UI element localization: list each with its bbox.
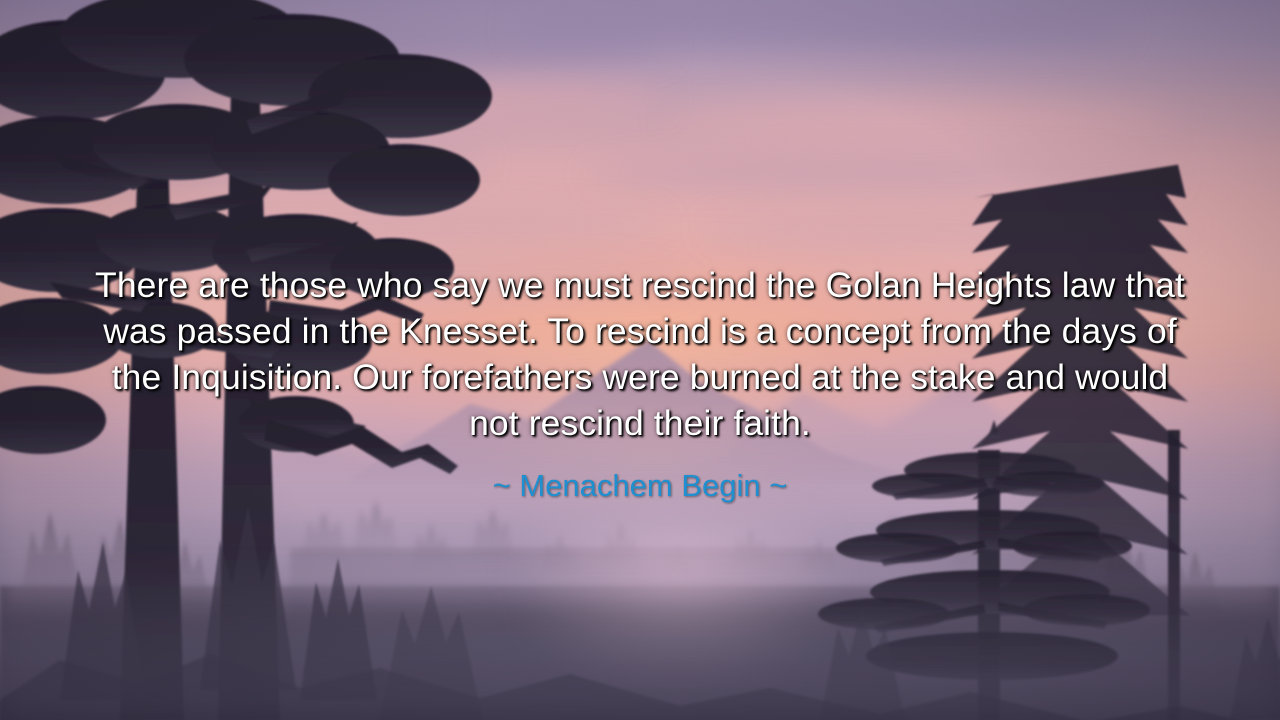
quote-overlay: There are those who say we must rescind … <box>0 0 1280 720</box>
quote-author: ~ Menachem Begin ~ <box>493 466 788 506</box>
quote-image: There are those who say we must rescind … <box>0 0 1280 720</box>
quote-text: There are those who say we must rescind … <box>92 262 1188 446</box>
